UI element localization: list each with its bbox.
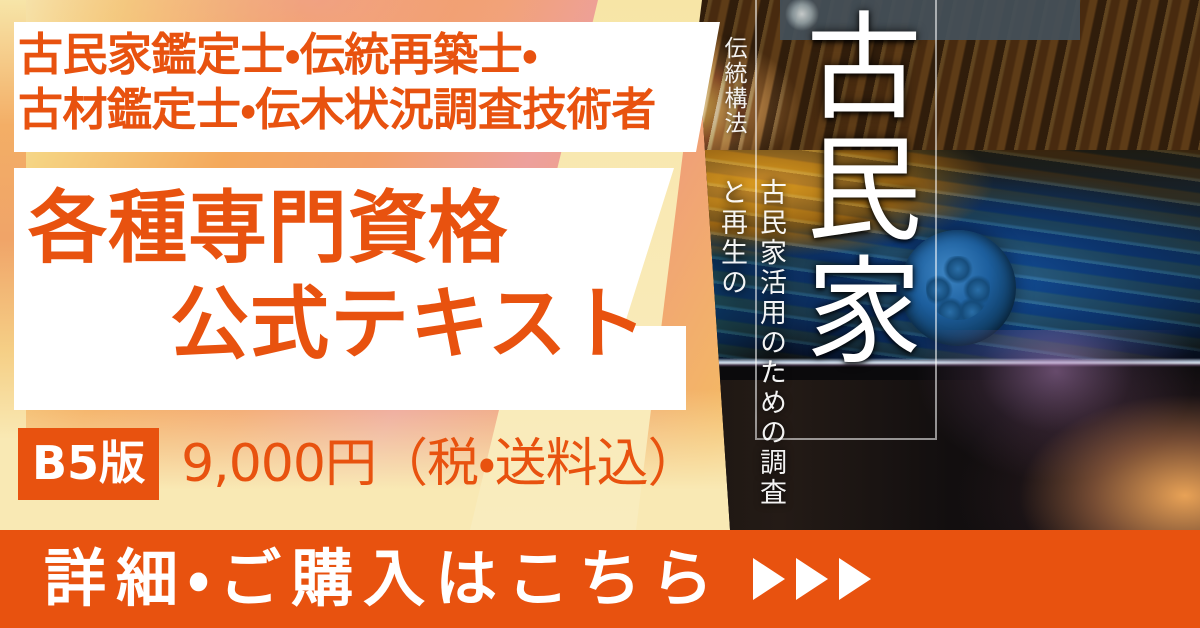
triangle-right-icon bbox=[839, 558, 871, 600]
book-title: 古民家 bbox=[770, 6, 920, 372]
cta-label: 詳細・ご購入はこちら bbox=[44, 548, 723, 610]
triangle-right-icon bbox=[796, 558, 828, 600]
headline-text: 各種専門資格 公式テキスト bbox=[18, 180, 698, 373]
headline-line-2: 公式テキスト bbox=[18, 276, 698, 372]
price-row: B5版 9,000円（税・送料込） bbox=[18, 428, 699, 500]
qualifications-text: 古民家鑑定士・伝統再築士・ 古材鑑定士・伝木状況調査技術者 bbox=[18, 28, 728, 138]
format-badge: B5版 bbox=[18, 428, 159, 500]
cta-arrow-group bbox=[753, 558, 871, 600]
qualifications-line-2: 古材鑑定士・伝木状況調査技術者 bbox=[18, 83, 728, 138]
triangle-right-icon bbox=[753, 558, 785, 600]
price-label: 9,000円（税・送料込） bbox=[181, 438, 699, 490]
cta-bar[interactable]: 詳細・ご購入はこちら bbox=[0, 530, 1200, 628]
qualifications-line-1: 古民家鑑定士・伝統再築士・ bbox=[18, 28, 728, 83]
promotional-banner: 古民家 伝統構法 古民家活用のための調査と再生の 古民家鑑定士・伝統再築士・ 古… bbox=[0, 0, 1200, 628]
headline-line-1: 各種専門資格 bbox=[18, 180, 698, 276]
